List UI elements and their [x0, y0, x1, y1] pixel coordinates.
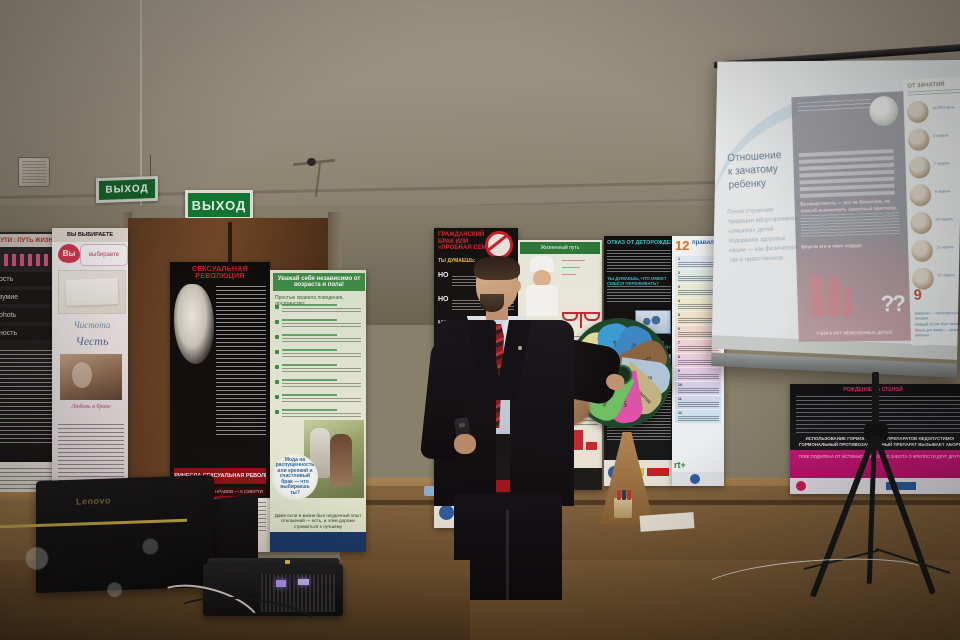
banner-respect-title: Уважай себя независимо от возраста и пол… — [273, 273, 365, 291]
presenter-hair — [474, 256, 520, 280]
banner-word-purity: Чистота — [62, 320, 122, 330]
ceiling-light-fixture-icon — [293, 158, 335, 166]
exit-sign-right: ВЫХОД — [185, 190, 253, 220]
slide-section-2: Впусти его в свое сердце. — [801, 242, 900, 251]
banner-bottom-text: Даже если в жизни был неудачный опыт отн… — [270, 512, 366, 530]
embryo-stage: 10 недель — [910, 211, 960, 239]
banner-respect-yourself: Уважай себя независимо от возраста и пол… — [270, 270, 366, 552]
slide-center-panel: Беззащитность — это не бессилие, не спос… — [791, 91, 911, 342]
embryo-stage: 7 недель — [909, 154, 960, 182]
embryo-stage: 8 недель — [909, 182, 960, 210]
banner-you-choose-title: ВЫ ВЫБИРАЕТЕ — [52, 228, 128, 242]
projector-indicator-light — [276, 580, 286, 587]
slide-right-panel: ОТ ЗАЧАТИЯ 18-20-й день 6 недель 7 недел… — [903, 76, 960, 345]
family-silhouette-icon — [804, 265, 862, 317]
slide-body-text: Почти столетняя традиция абортирования «… — [727, 204, 801, 266]
embryo-stage: 18-20-й день — [907, 98, 960, 127]
presentation-slide: Отношение к зачатому ребенку Почти столе… — [712, 60, 960, 346]
banner-decor-row — [0, 254, 50, 266]
speech-bubble: выбираете — [80, 244, 128, 266]
banner-number-text: правил — [692, 240, 714, 246]
exit-sign-left: ВЫХОД — [96, 176, 158, 203]
presenter — [418, 258, 618, 598]
lecture-hall-photo: ВЫХОД ВЫХОД ПУТИ : ПУТЬ ЖИЗНИ И ПУТЬ СМЕ… — [0, 0, 960, 640]
couple-photo — [60, 354, 122, 400]
banner-item: ость — [0, 272, 53, 286]
heart-icon: Вы — [58, 244, 80, 263]
laptop-brand-logo: Lenovo — [76, 495, 111, 506]
slide-right-footer: Эмбрион — полноценный человек Каждый из … — [914, 310, 960, 339]
cat-photo — [174, 284, 214, 364]
banner-body-text — [0, 350, 53, 446]
banner-word-honor: Честь — [62, 334, 122, 349]
banner-refusal-title: ОТКАЗ ОТ ДЕТОРОЖДЕНИЯ — [607, 240, 671, 246]
book-illustration — [58, 270, 126, 314]
banner-item: ohotь — [0, 308, 53, 322]
banner-sexual-revolution-title: СЕКСУАЛЬНАЯ РЕВОЛЮЦИЯ — [170, 266, 270, 280]
organization-logo: rt+ — [674, 460, 686, 470]
banner-item: зумие — [0, 290, 53, 304]
presenter-beard — [480, 294, 504, 312]
banner-footer — [270, 532, 366, 552]
ventilation-grille-icon — [18, 157, 50, 187]
embryo-stage: 11 недель — [911, 239, 960, 266]
projector-power-led — [285, 560, 290, 564]
screen-canvas: Отношение к зачатому ребенку Почти столе… — [712, 60, 960, 360]
projector-indicator-light-2 — [298, 579, 309, 585]
slide-right-heading: ОТ ЗАЧАТИЯ — [907, 82, 944, 90]
presenter-left-hand — [454, 434, 476, 454]
banner-two-ways-title: ПУТИ : ПУТЬ ЖИЗНИ И ПУТЬ СМЕРТИ — [0, 234, 56, 247]
ovum-photo-icon — [869, 95, 899, 126]
banner-life-path-title: Жизненный путь — [520, 242, 600, 254]
projection-screen: Отношение к зачатому ребенку Почти столе… — [711, 60, 960, 378]
question-marks: ?? — [880, 290, 904, 317]
banner-caption: Любовь в браке — [60, 404, 122, 410]
banner-item: ность — [0, 326, 53, 340]
banner-callout-circle: Мода на распущенность или крепкий и счас… — [272, 454, 318, 500]
lapel-pin-icon — [518, 346, 522, 350]
slide-big-number: 9 — [913, 287, 922, 304]
slide-footer-text: У БОГА НЕТ НЕЖЕЛАННЫХ ДЕТЕЙ — [798, 330, 910, 336]
banner-number: 12 — [675, 238, 689, 253]
banner-body-text — [216, 286, 266, 436]
prohibition-icon — [485, 231, 513, 259]
embryo-stage: 6 недель — [908, 126, 960, 155]
slide-bullet-list — [799, 149, 899, 201]
banner-footer — [672, 472, 724, 486]
